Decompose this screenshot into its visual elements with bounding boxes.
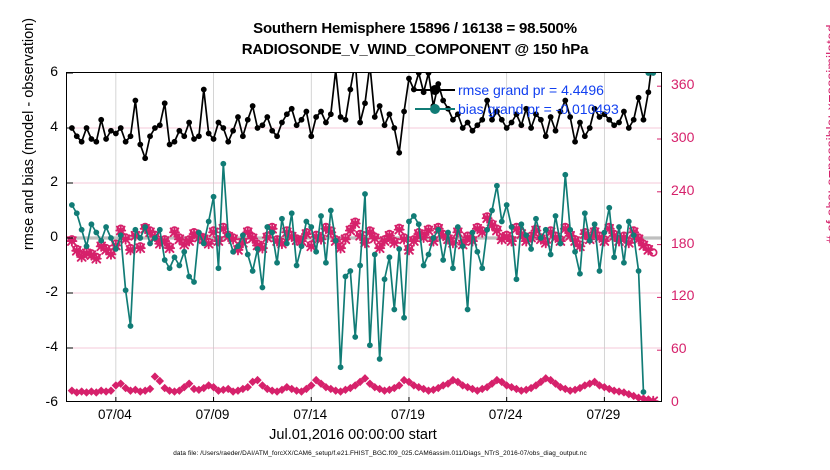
x-tick-07-29: 07/29: [568, 407, 638, 422]
title-line-1: Southern Hemisphere 15896 / 16138 = 98.5…: [0, 18, 830, 39]
x-axis-label: Jul.01,2016 00:00:00 start: [0, 427, 830, 443]
plot-area[interactable]: [66, 72, 662, 402]
plot-canvas: [67, 73, 662, 402]
x-tick-07-24: 07/24: [471, 407, 541, 422]
chart-title: Southern Hemisphere 15896 / 16138 = 98.5…: [0, 18, 830, 60]
y-tick-right-1: 60: [671, 340, 687, 356]
data-file-footer: data file: /Users/raeder/DAI/ATM_forcXX/…: [0, 450, 830, 457]
x-tick-07-14: 07/14: [275, 407, 345, 422]
figure-root: Southern Hemisphere 15896 / 16138 = 98.5…: [0, 0, 830, 470]
y-axis-left-label: rmse and bias (model - observation): [21, 0, 37, 299]
y-tick-right-2: 120: [671, 287, 694, 303]
y-tick-right-4: 240: [671, 182, 694, 198]
y-tick-left-1: -4: [16, 338, 58, 354]
x-tick-07-09: 07/09: [178, 407, 248, 422]
y-tick-right-5: 300: [671, 129, 694, 145]
y-tick-right-6: 360: [671, 76, 694, 92]
x-axis-label-text: Jul.01,2016 00:00:00 start: [269, 427, 437, 443]
x-tick-07-04: 07/04: [80, 407, 150, 422]
y-tick-right-0: 0: [671, 393, 679, 409]
title-line-2: RADIOSONDE_V_WIND_COMPONENT @ 150 hPa: [0, 39, 830, 60]
data-file-path: data file: /Users/raeder/DAI/ATM_forcXX/…: [173, 450, 587, 457]
x-tick-07-19: 07/19: [373, 407, 443, 422]
y-axis-right-label: # of obs: o=possible; ×=assimilated: [823, 0, 830, 299]
rmse-series: [69, 73, 656, 161]
y-tick-right-3: 180: [671, 235, 694, 251]
y-tick-left-0: -6: [16, 393, 58, 409]
